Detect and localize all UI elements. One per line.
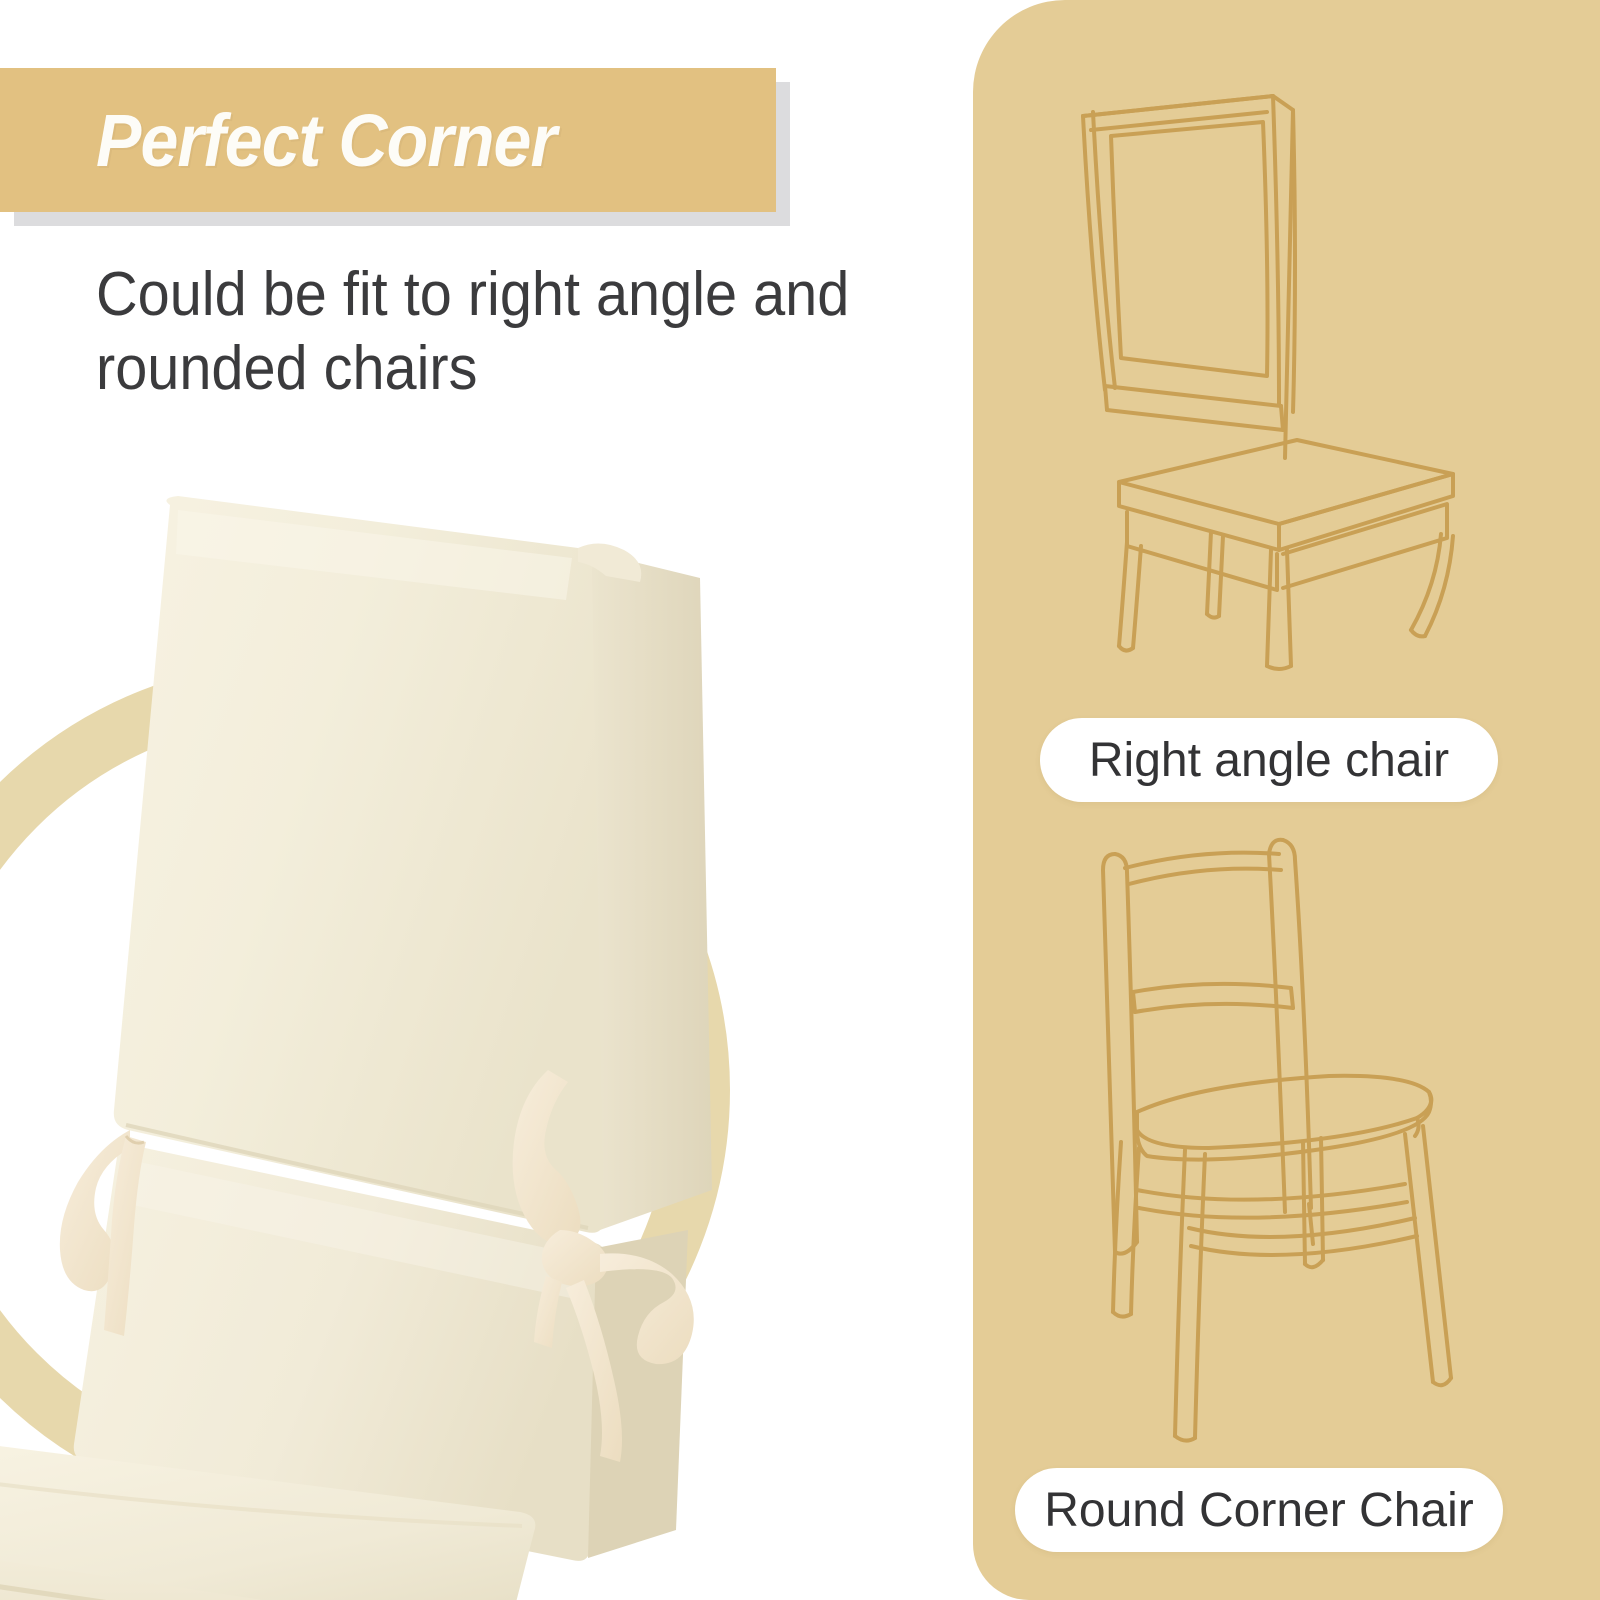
label-round-corner-chair-text: Round Corner Chair [1044,1483,1474,1538]
page-title: Perfect Corner [96,98,556,183]
label-round-corner-chair: Round Corner Chair [1015,1468,1503,1552]
round-corner-chair-illustration [1029,812,1529,1452]
label-right-angle-chair: Right angle chair [1040,718,1498,802]
page-subtitle: Could be fit to right angle and rounded … [96,258,859,407]
title-banner: Perfect Corner [0,68,776,212]
label-right-angle-chair-text: Right angle chair [1089,733,1449,788]
infographic-page: Perfect Corner Could be fit to right ang… [0,0,1600,1600]
right-angle-chair-illustration [1035,38,1535,678]
cushion-backrest [114,496,712,1233]
product-photo-cushion [0,430,760,1600]
